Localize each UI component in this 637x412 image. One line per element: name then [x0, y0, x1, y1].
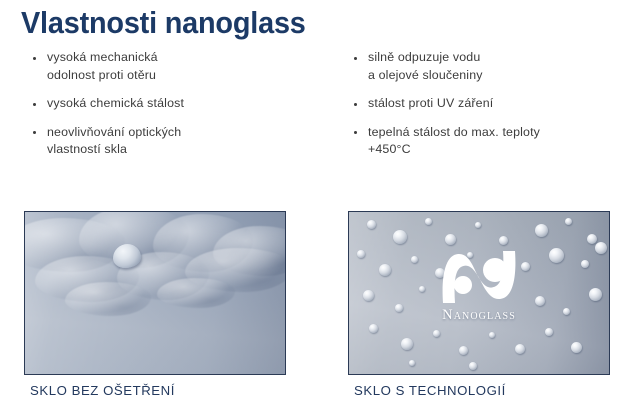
feature-list-right: silně odpuzuje vodu a olejové sloučeniny…	[351, 49, 636, 170]
list-item-line: +450°C	[368, 141, 636, 159]
list-item-line: stálost proti UV záření	[368, 95, 636, 113]
list-item: tepelná stálost do max. teploty +450°C	[351, 124, 636, 159]
feature-list-left: vysoká mechanická odolnost proti otěru v…	[30, 49, 330, 170]
treated-glass-photo: Nanoglass	[348, 211, 610, 375]
bullet-dot-icon	[33, 57, 36, 60]
list-item: neovlivňování optických vlastností skla	[30, 124, 330, 159]
list-item-line: silně odpuzuje vodu	[368, 49, 636, 67]
bullet-dot-icon	[33, 131, 36, 134]
list-item-line: tepelná stálost do max. teploty	[368, 124, 636, 142]
list-item: stálost proti UV záření	[351, 95, 636, 113]
nanoglass-feature-slide: Vlastnosti nanoglass vysoká mechanická o…	[0, 0, 637, 412]
nanoglass-logo-text: Nanoglass	[417, 307, 541, 324]
bullet-dot-icon	[33, 103, 36, 106]
water-droplet	[113, 244, 141, 268]
list-item-line: vlastností skla	[47, 141, 330, 159]
untreated-glass-photo	[24, 211, 286, 375]
bullet-dot-icon	[354, 57, 357, 60]
untreated-glass-surface	[25, 212, 285, 374]
treated-glass-caption: SKLO S TECHNOLOGIÍ	[354, 383, 506, 398]
nanoglass-wave-icon	[436, 248, 522, 306]
list-item-line: odolnost proti otěru	[47, 67, 330, 85]
list-item-line: neovlivňování optických	[47, 124, 330, 142]
treated-glass-surface: Nanoglass	[349, 212, 609, 374]
bullet-dot-icon	[354, 131, 357, 134]
bullet-dot-icon	[354, 103, 357, 106]
list-item: silně odpuzuje vodu a olejové sloučeniny	[351, 49, 636, 84]
page-title: Vlastnosti nanoglass	[21, 5, 306, 41]
list-item-line: vysoká mechanická	[47, 49, 330, 67]
list-item: vysoká mechanická odolnost proti otěru	[30, 49, 330, 84]
untreated-glass-caption: SKLO BEZ OŠETŘENÍ	[30, 383, 175, 398]
list-item-line: a olejové sloučeniny	[368, 67, 636, 85]
nanoglass-logo: Nanoglass	[417, 248, 541, 324]
list-item-line: vysoká chemická stálost	[47, 95, 330, 113]
list-item: vysoká chemická stálost	[30, 95, 330, 113]
